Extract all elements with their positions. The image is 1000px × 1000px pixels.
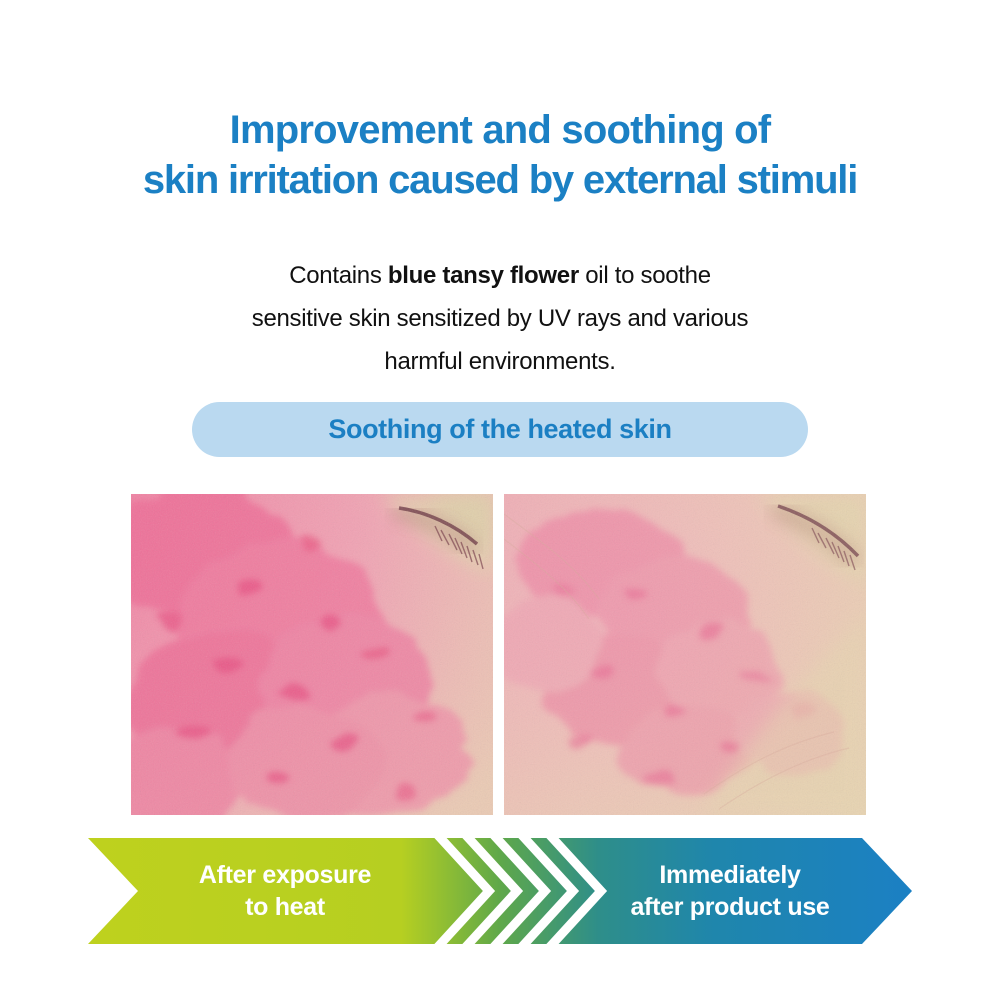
description-line-3: harmful environments. [0,340,1000,383]
photo-before-image [131,494,493,815]
section-badge-label: Soothing of the heated skin [328,416,671,443]
headline-line-2: skin irritation caused by external stimu… [0,155,1000,205]
photo-after-image [504,494,866,815]
photo-after [504,494,866,815]
before-after-arrow-banner [88,838,912,944]
headline-line-1: Improvement and soothing of [0,105,1000,155]
before-after-photo-pair [131,494,866,815]
description-line-1-pre: Contains [289,262,388,289]
description-line-1-post: oil to soothe [579,262,711,289]
promo-page: Improvement and soothing of skin irritat… [0,0,1000,1000]
description-line-1: Contains blue tansy flower oil to soothe [0,254,1000,297]
description-line-2: sensitive skin sensitized by UV rays and… [0,297,1000,340]
photo-before [131,494,493,815]
page-title: Improvement and soothing of skin irritat… [0,105,1000,205]
description-text: Contains blue tansy flower oil to soothe… [0,254,1000,383]
ingredient-highlight: blue tansy flower [388,262,579,289]
section-badge: Soothing of the heated skin [192,402,808,457]
arrow-banner-graphic [88,838,912,944]
